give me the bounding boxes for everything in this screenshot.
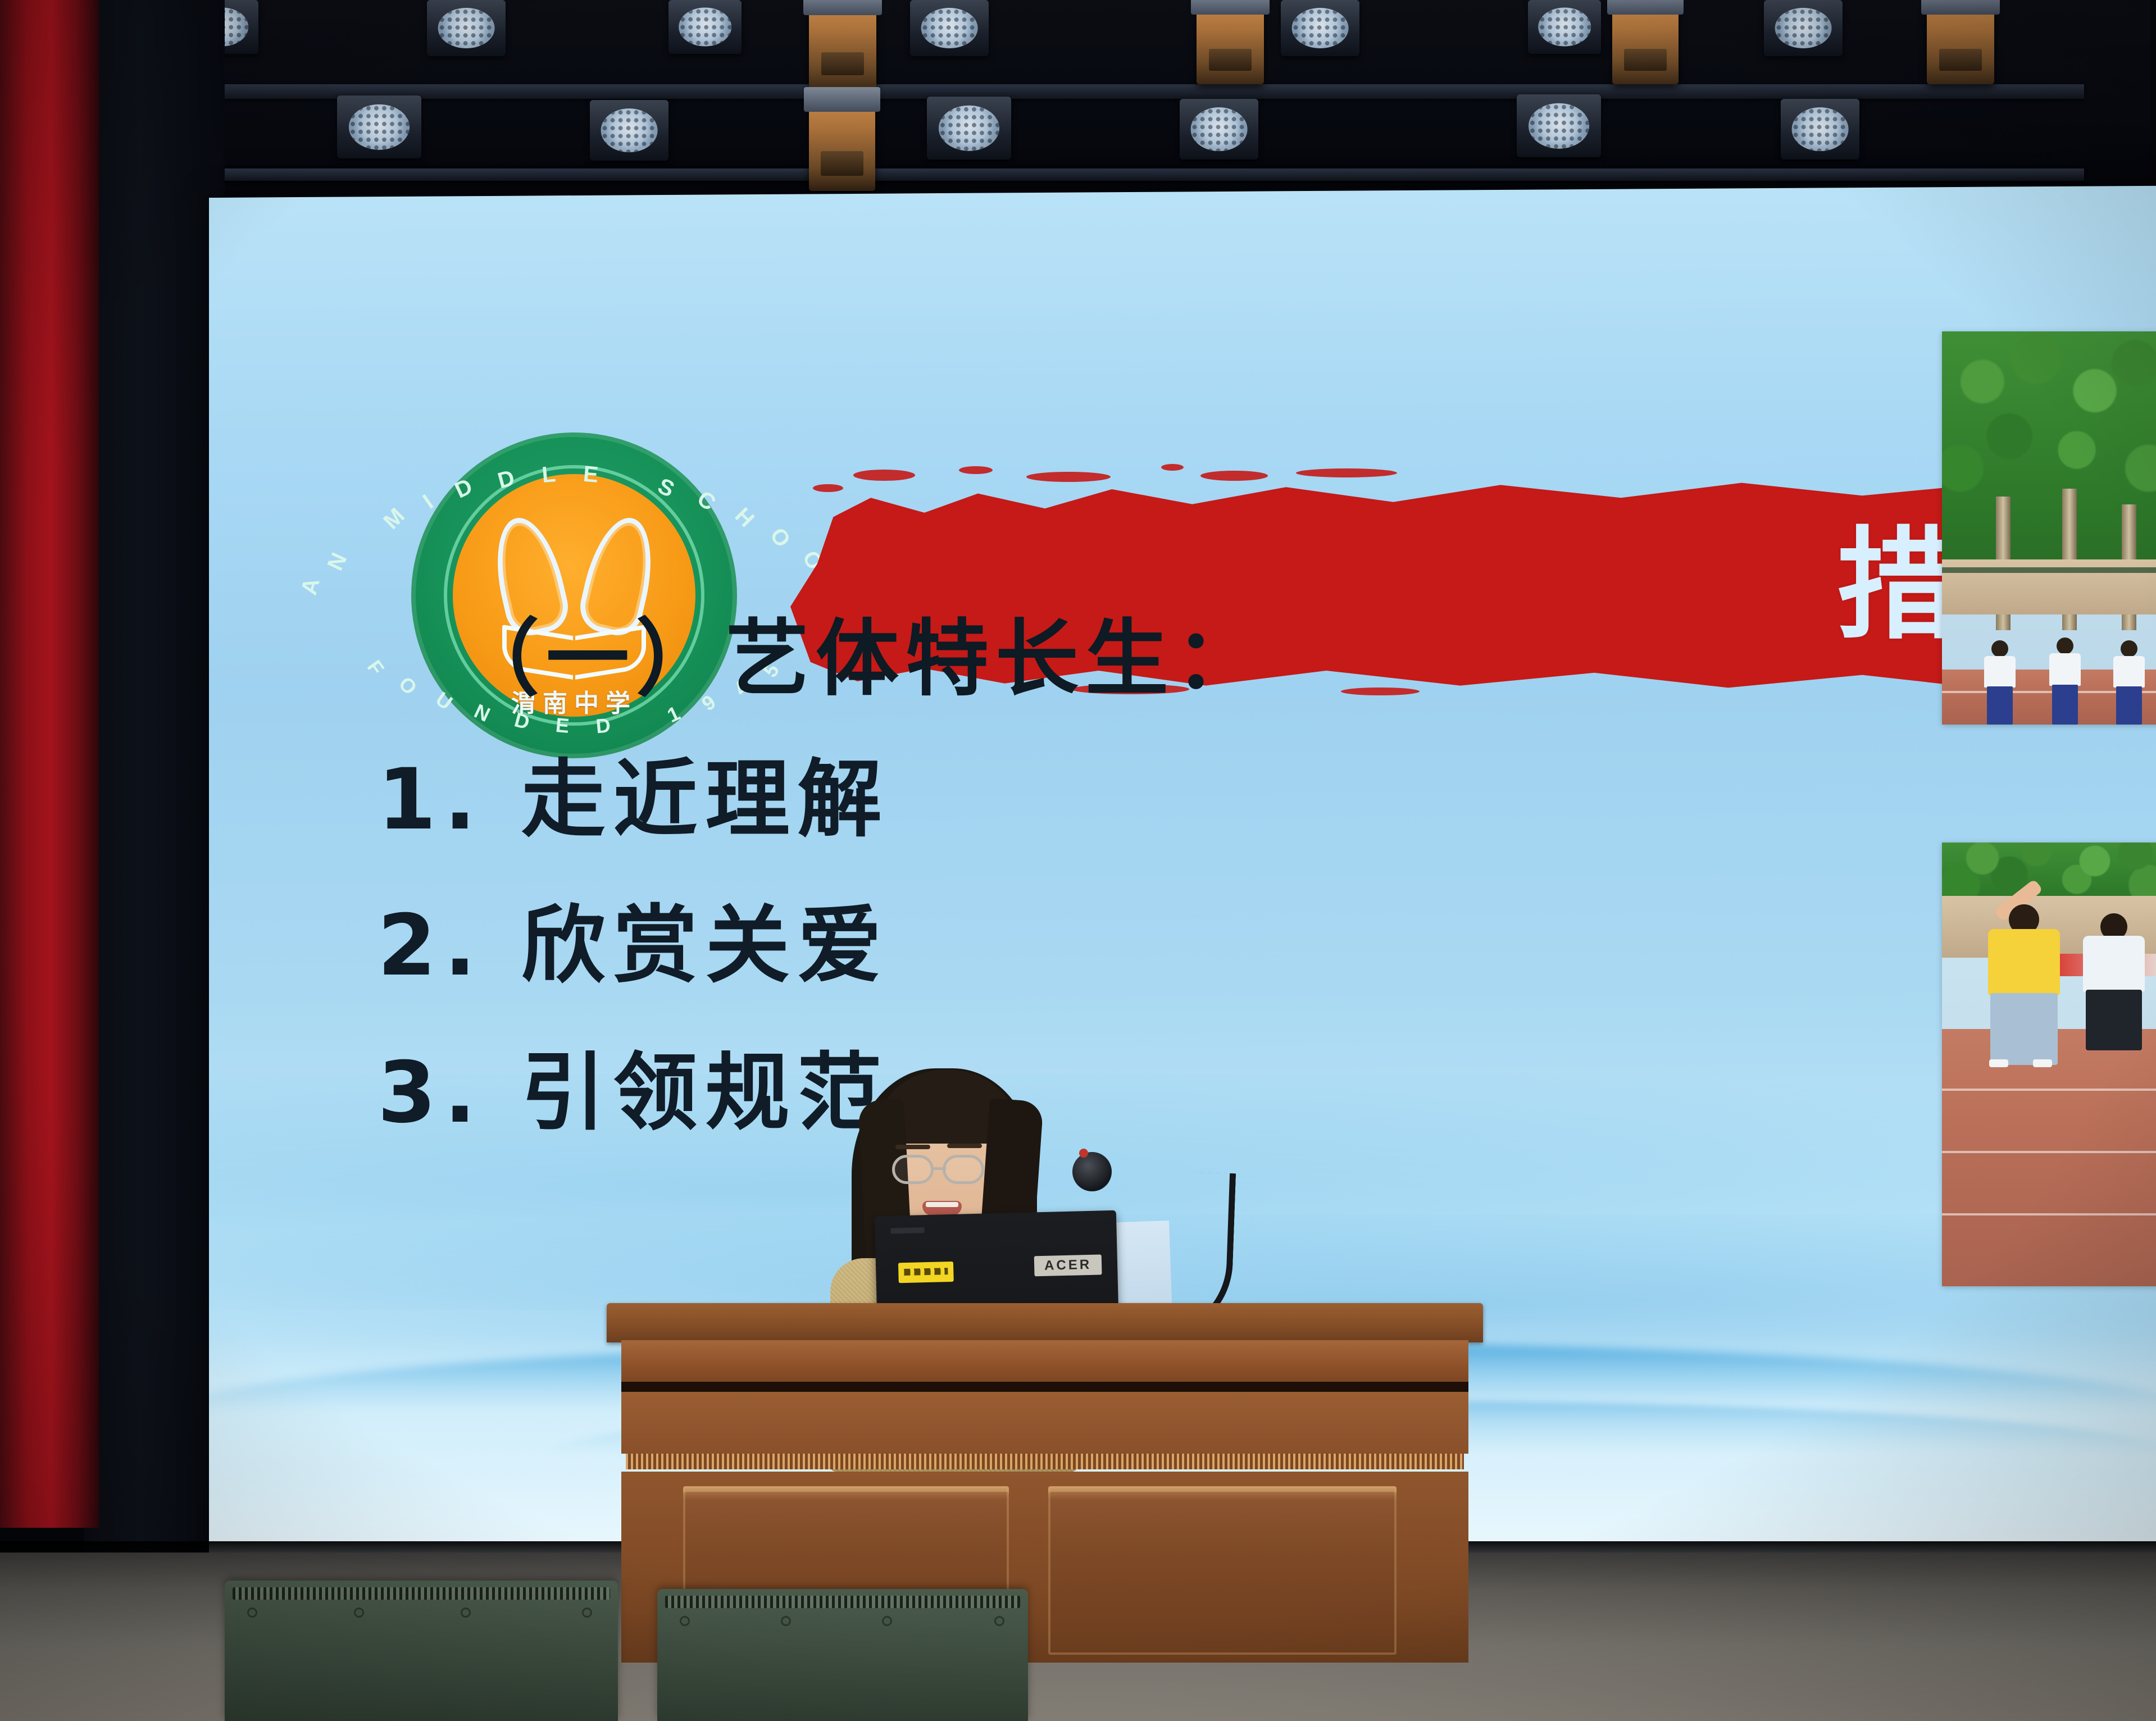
par-can-light — [590, 100, 668, 161]
eyeglasses-bridge — [934, 1167, 946, 1170]
stage-curtain-dark — [84, 0, 225, 1601]
podium-recess-shadow — [621, 1382, 1468, 1393]
par-can-light — [1764, 0, 1843, 56]
logo-arc-top-text: AN MIDDLE SCHOOL — [411, 462, 737, 487]
photo-student-figure — [1981, 640, 2018, 725]
laptop-asset-sticker — [898, 1262, 954, 1283]
bullet-3-number: 3. — [377, 1044, 484, 1142]
par-can-light — [1180, 99, 1258, 160]
par-can-light — [927, 97, 1011, 160]
slide-photo-track-athlete — [1942, 843, 2156, 1286]
audience-chair — [225, 1581, 618, 1721]
par-can-light — [910, 0, 989, 56]
bullet-2-text: 欣赏关爱 — [521, 897, 890, 995]
audience-chair — [657, 1589, 1028, 1721]
moving-head-light — [809, 0, 876, 90]
slide-lead-line: （一）艺体特长生： — [456, 591, 1265, 712]
photo-athlete-figure — [1973, 896, 2075, 1065]
truss-bar — [84, 169, 2084, 181]
slide-bullet-1: 1. 走近理解 — [377, 731, 890, 853]
par-can-light — [668, 0, 742, 54]
photo-student-figure — [2046, 638, 2084, 725]
podium-panel-right — [1048, 1486, 1397, 1655]
stage-lighting-rig — [0, 0, 2156, 202]
par-can-light — [1517, 94, 1601, 157]
chair-vent-slots — [233, 1587, 610, 1600]
presenter-eyebrow — [895, 1145, 930, 1149]
bullet-1-number: 1. — [377, 751, 484, 849]
laptop-brand-badge: ACER — [1034, 1254, 1102, 1276]
chair-vent-slots — [665, 1596, 1020, 1608]
eyeglasses-lens-right — [943, 1155, 984, 1184]
moving-head-light — [1612, 0, 1679, 84]
podium-fascia — [621, 1340, 1468, 1383]
podium-gold-reed-trim — [626, 1454, 1464, 1469]
slide-bullet-2: 2. 欣赏关爱 — [377, 877, 890, 999]
par-can-light — [1528, 0, 1601, 54]
eyeglasses-lens-left — [892, 1155, 934, 1184]
par-can-light — [427, 0, 506, 56]
photo-athlete-figure — [2075, 910, 2153, 1050]
podium-mid-rail — [621, 1392, 1468, 1454]
moving-head-light — [1197, 0, 1264, 84]
bullet-1-text: 走近理解 — [521, 751, 890, 849]
stage-curtain-red — [0, 0, 99, 1528]
auditorium-hall: AN MIDDLE SCHOOL 渭南中学 FOUNDED 1945 — [0, 0, 2156, 1721]
par-can-light — [1281, 0, 1359, 56]
moving-head-light — [1927, 0, 1994, 84]
par-can-light — [337, 95, 421, 158]
presenter-eyebrow — [947, 1144, 982, 1148]
par-can-light — [1781, 99, 1859, 160]
slide-photo-campus-students — [1942, 331, 2156, 725]
presenter-mouth — [922, 1201, 962, 1215]
moving-head-light — [809, 95, 875, 191]
microphone-capsule — [1072, 1152, 1112, 1191]
laptop-camera-bar — [890, 1227, 924, 1233]
bullet-2-number: 2. — [377, 897, 484, 995]
photo-student-figure — [2110, 640, 2148, 725]
podium-top-surface — [607, 1303, 1483, 1342]
